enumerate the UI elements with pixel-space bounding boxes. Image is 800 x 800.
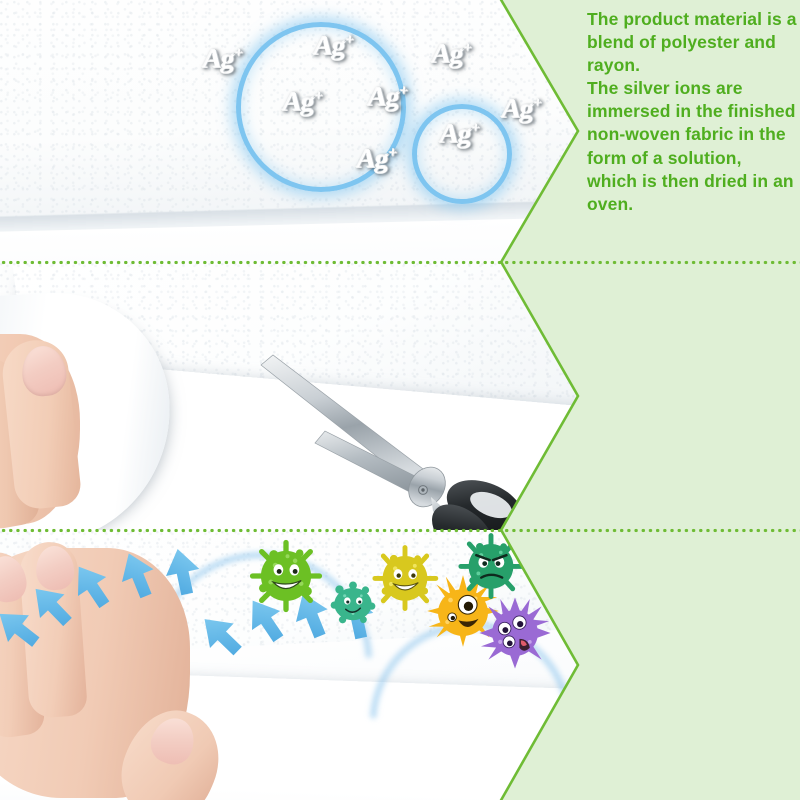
panel-antibacterial: The non-woven fabric itself has good wat… [0,530,800,800]
silver-ion-label: Ag+ [438,120,481,147]
panel-cut: You can cut the product to the size you … [0,262,800,530]
panel-divider-top [0,259,800,266]
panel-material: Ag+ Ag+ Ag+ Ag+ Ag+ Ag+ Ag+ Ag+ The prod… [0,0,800,262]
silver-ion-label: Ag+ [430,40,473,67]
silver-ion-label: Ag+ [355,145,398,172]
panel-cut-photo [0,262,800,530]
germ-green-large-icon [248,538,324,614]
germ-dark-green-angry-icon [456,530,526,600]
scissors-icon [255,347,555,530]
panel-antibacterial-photo [0,530,800,800]
product-infographic: Ag+ Ag+ Ag+ Ag+ Ag+ Ag+ Ag+ Ag+ The prod… [0,0,800,800]
silver-ion-label: Ag+ [201,45,244,72]
silver-ion-label: Ag+ [281,88,324,115]
panel-divider-bottom [0,527,800,534]
silver-ion-label: Ag+ [500,95,543,122]
silver-ion-label: Ag+ [366,83,409,110]
panel-material-text: The product material is a blend of polye… [587,8,799,216]
silver-ion-label: Ag+ [312,32,355,59]
germ-purple-three-eyes-icon [478,596,552,670]
